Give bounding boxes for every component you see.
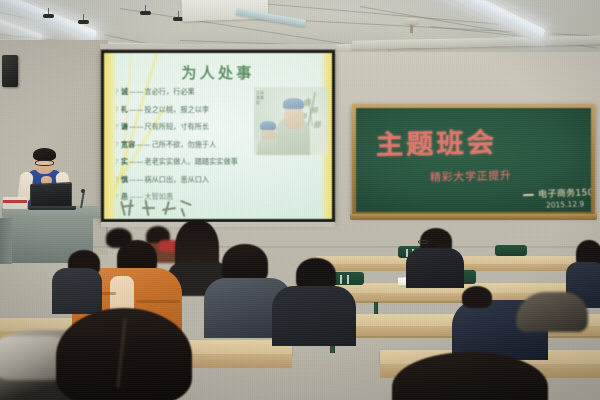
slide-ink-doodle xyxy=(120,199,200,219)
student-ponytail-body xyxy=(406,248,464,288)
desk-box xyxy=(3,197,27,209)
bullet-text: 老老实实做人，踏踏实实做事 xyxy=(144,157,237,167)
bullet-marker: ? xyxy=(115,157,119,166)
bullet-dash: —— xyxy=(136,140,150,149)
slide-bullet: ? 慎 —— 祸从口出，患从口入 xyxy=(115,175,238,185)
bullet-marker: ? xyxy=(115,122,119,131)
student-navy-head xyxy=(462,286,492,308)
bullet-dash: —— xyxy=(129,105,143,114)
bullet-key: 礼 xyxy=(121,105,128,115)
bullet-marker: ? xyxy=(115,140,119,149)
projected-slide: 为人处事 古画 耄耋 图 ? xyxy=(104,53,332,219)
classroom-photo: 为人处事 古画 耄耋 图 ? xyxy=(0,0,600,400)
podium-side-panel xyxy=(0,218,12,264)
bullet-key: 诚 xyxy=(121,87,128,97)
slide-bullet-list: ? 诚 —— 言必行，行必果 ? 礼 —— 投之以桃，报之以李 ? 谦 —— 尺… xyxy=(115,87,238,202)
blackboard-signature: 电子商务1502 xyxy=(538,185,591,200)
bullet-key: 慎 xyxy=(121,175,128,185)
student-ponytail-glasses xyxy=(418,240,428,244)
bullet-text: 言必行，行必果 xyxy=(144,87,194,97)
bullet-text: 己所不欲，勿施于人 xyxy=(152,140,217,150)
bullet-key: 实 xyxy=(121,157,128,167)
desk-box-label xyxy=(3,200,27,203)
bullet-dash: —— xyxy=(129,157,143,166)
chair-far-2 xyxy=(495,245,527,256)
student-navy-fur-hood xyxy=(516,292,588,332)
bullet-key: 谦 xyxy=(121,122,128,132)
blackboard-chalk-tray xyxy=(350,214,597,220)
slide-bullet: ? 实 —— 老老实实做人，踏踏实实做事 xyxy=(115,157,238,167)
ceiling-fixture-1 xyxy=(43,14,54,18)
blackboard-surface: 主题班会 精彩大学正提升 电子商务1502 2015.12.9 xyxy=(356,108,591,212)
slide-bullet: ? 礼 —— 投之以桃，报之以李 xyxy=(115,105,238,115)
bullet-dash: —— xyxy=(129,175,143,184)
slide-bullet: ? 宽容 —— 己所不欲，勿施于人 xyxy=(115,140,238,150)
slide-bullet: ? 诚 —— 言必行，行必果 xyxy=(115,87,238,97)
student-blackcoat-body xyxy=(272,286,356,346)
bullet-text: 投之以桃，报之以李 xyxy=(144,105,209,115)
blackboard: 主题班会 精彩大学正提升 电子商务1502 2015.12.9 xyxy=(352,104,595,216)
blackboard-date: 2015.12.9 xyxy=(546,199,584,209)
student-darkcoat-body xyxy=(52,268,102,314)
bullet-text: 祸从口出，患从口入 xyxy=(144,175,209,185)
screen-mount-rail xyxy=(100,44,336,49)
bullet-dash: —— xyxy=(129,87,143,96)
blackboard-title: 主题班会 xyxy=(376,121,498,163)
student-orange-jacket-seam-2 xyxy=(136,300,180,303)
ceiling-fixture-3 xyxy=(140,11,151,15)
chair-slot xyxy=(340,275,342,284)
laptop-base xyxy=(28,206,76,210)
slide-bullet: ? 谦 —— 尺有所短，寸有所长 xyxy=(115,122,238,132)
wall-speaker xyxy=(2,55,18,87)
slide-artwork: 古画 耄耋 图 xyxy=(254,87,328,155)
microphone-head xyxy=(81,189,85,193)
bullet-marker: ? xyxy=(115,192,119,201)
bullet-key: 宽容 xyxy=(121,140,135,150)
bullet-text: 尺有所短，寸有所长 xyxy=(144,122,209,132)
projection-screen: 为人处事 古画 耄耋 图 ? xyxy=(101,50,335,222)
bullet-marker: ? xyxy=(115,87,119,96)
slide-title: 为人处事 xyxy=(104,62,332,83)
bullet-dash: —— xyxy=(129,122,143,131)
ceiling-fixture-2 xyxy=(78,20,89,24)
bullet-marker: ? xyxy=(115,175,119,184)
smoke-detector-cap xyxy=(407,33,416,38)
bullet-marker: ? xyxy=(115,105,119,114)
blackboard-subtitle: 精彩大学正提升 xyxy=(430,167,512,185)
slide-artwork-caption: 古画 耄耋 图 xyxy=(256,90,264,105)
chair-slot xyxy=(347,275,349,284)
presenter-glasses xyxy=(35,160,54,166)
